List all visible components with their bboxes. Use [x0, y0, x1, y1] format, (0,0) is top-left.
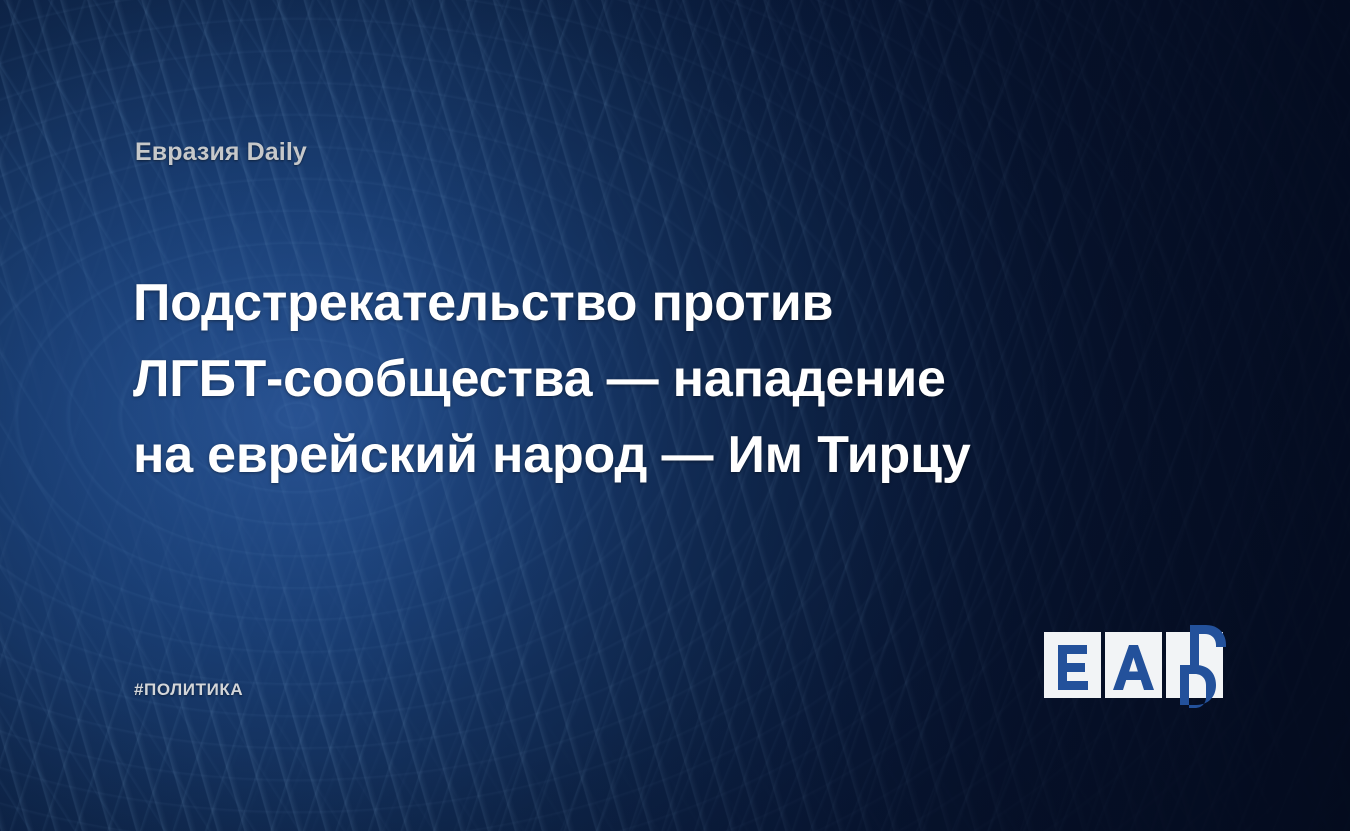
logo-letter-d-icon — [1166, 632, 1223, 698]
headline-line-1: Подстрекательство против — [133, 265, 1033, 341]
article-promo-card: Евразия Daily Подстрекательство против Л… — [0, 0, 1350, 831]
page-title: Подстрекательство против ЛГБТ-сообщества… — [133, 265, 1033, 493]
headline-line-2: ЛГБТ-сообщества — нападение — [133, 341, 1033, 417]
logo-letter-a-icon — [1105, 632, 1162, 698]
brand-name: Евразия Daily — [135, 138, 307, 167]
logo-letter-e-icon — [1044, 632, 1101, 698]
ead-logo[interactable] — [1044, 632, 1224, 698]
headline-line-3: на еврейский народ — Им Тирцу — [133, 417, 1033, 493]
card-content: Евразия Daily Подстрекательство против Л… — [0, 0, 1350, 831]
category-tag[interactable]: #ПОЛИТИКА — [134, 680, 243, 700]
